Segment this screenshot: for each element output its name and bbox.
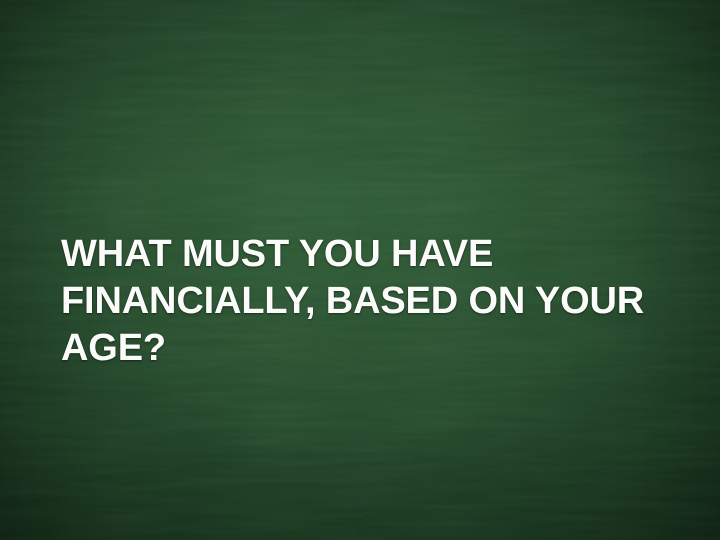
slide-title-line-1: WHAT MUST YOU HAVE [61,231,621,278]
slide-title-line-3: AGE? [61,325,621,372]
slide-title-line-2: FINANCIALLY, BASED ON YOUR [61,278,621,325]
presentation-slide: WHAT MUST YOU HAVE FINANCIALLY, BASED ON… [0,0,720,540]
slide-title: WHAT MUST YOU HAVE FINANCIALLY, BASED ON… [61,231,621,372]
